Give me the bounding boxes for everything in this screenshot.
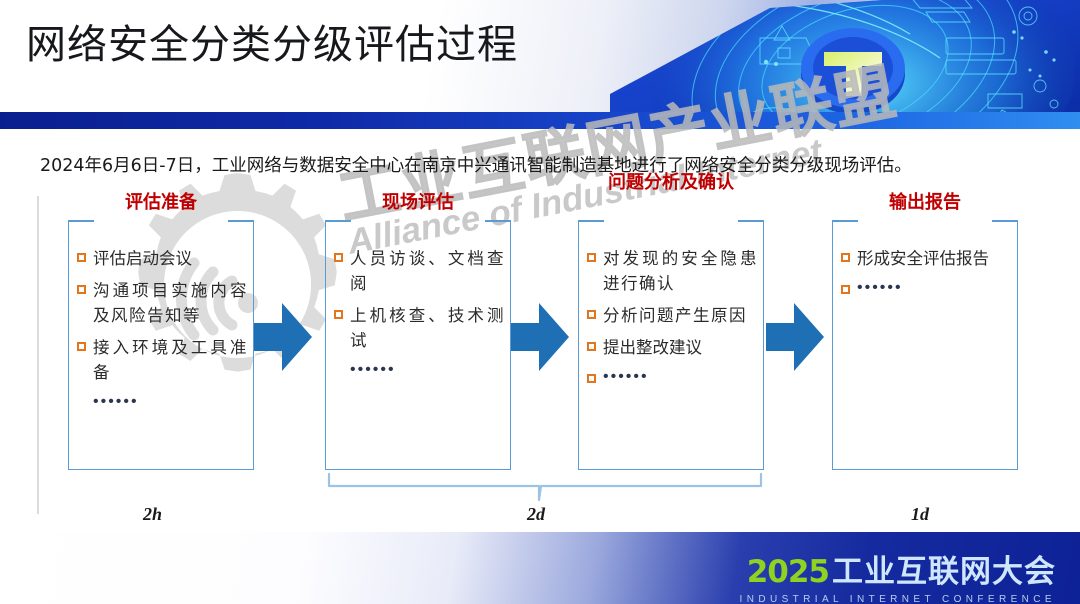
list-item: •••••• [77, 392, 248, 412]
stage-title-1: 评估准备 [56, 192, 266, 213]
conference-logo: 2025 工业互联网大会 INDUSTRIAL INTERNET CONFERE… [740, 546, 1056, 604]
square-bullet-icon [587, 310, 596, 319]
list-item-label: 形成安全评估报告 [857, 246, 989, 271]
flow-arrow-2-icon [509, 297, 571, 377]
box-top-tick-left [578, 220, 604, 222]
slide-body: 工业互联网产业联盟 Alliance of Industrial Interne… [0, 132, 1080, 532]
list-item-label: 对发现的安全隐患进行确认 [603, 246, 758, 296]
list-item-label: 人员访谈、文档查阅 [350, 246, 505, 296]
list-item-ellipsis: •••••• [93, 392, 139, 412]
stage-items-3: 对发现的安全隐患进行确认 分析问题产生原因 提出整改建议 •••••• [587, 246, 758, 394]
flow-arrow-1-icon [252, 297, 314, 377]
list-item: 对发现的安全隐患进行确认 [587, 246, 758, 296]
duration-label-first: 2h [143, 504, 162, 525]
square-bullet-icon [841, 285, 850, 294]
logo-name-cn: 工业互联网大会 [832, 546, 1056, 591]
list-item: 形成安全评估报告 [841, 246, 1012, 271]
duration-label-middle: 2d [527, 504, 545, 525]
square-bullet-icon [841, 253, 850, 262]
header-decorative-graphic [610, 0, 1080, 112]
list-item: 提出整改建议 [587, 335, 758, 360]
list-item: •••••• [587, 367, 758, 387]
square-bullet-icon [77, 342, 86, 351]
list-item: 沟通项目实施内容及风险告知等 [77, 278, 248, 328]
box-top-tick-left [325, 220, 351, 222]
list-item-label: 接入环境及工具准备 [93, 335, 248, 385]
list-item-ellipsis: •••••• [603, 367, 649, 387]
list-item: 接入环境及工具准备 [77, 335, 248, 385]
flow-arrow-3-icon [764, 297, 826, 377]
square-bullet-icon [334, 253, 343, 262]
stage-column-2[interactable]: 现场评估 人员访谈、文档查阅 上机核查、技术测试 •••••• [325, 220, 511, 470]
box-top-tick-right [228, 220, 254, 222]
slide-header: 网络安全分类分级评估过程 [0, 0, 1080, 112]
duration-brace-middle [325, 472, 765, 509]
stage-column-3[interactable]: 问题分析及确认 对发现的安全隐患进行确认 分析问题产生原因 提出整改建议 •••… [578, 220, 764, 470]
list-item-ellipsis: •••••• [350, 360, 396, 380]
stage-title-4: 输出报告 [820, 192, 1030, 213]
header-band [0, 112, 1080, 129]
stage-column-1[interactable]: 评估准备 评估启动会议 沟通项目实施内容及风险告知等 接入环境及工具准备 •••… [68, 220, 254, 470]
stage-items-4: 形成安全评估报告 •••••• [841, 246, 1012, 305]
square-bullet-icon [334, 310, 343, 319]
stage-items-1: 评估启动会议 沟通项目实施内容及风险告知等 接入环境及工具准备 •••••• [77, 246, 248, 419]
stage-column-4[interactable]: 输出报告 形成安全评估报告 •••••• [832, 220, 1018, 470]
box-top-tick-right [992, 220, 1018, 222]
list-item: •••••• [841, 278, 1012, 298]
list-item: 上机核查、技术测试 [334, 303, 505, 353]
stage-title-2: 现场评估 [313, 192, 523, 213]
list-item-label: 分析问题产生原因 [603, 303, 747, 328]
list-item: 评估启动会议 [77, 246, 248, 271]
slide-footer: 2025 工业互联网大会 INDUSTRIAL INTERNET CONFERE… [0, 532, 1080, 604]
logo-name-en: INDUSTRIAL INTERNET CONFERENCE [740, 594, 1056, 604]
square-bullet-icon [587, 253, 596, 262]
list-item: 人员访谈、文档查阅 [334, 246, 505, 296]
page-title: 网络安全分类分级评估过程 [26, 18, 518, 72]
stage-items-2: 人员访谈、文档查阅 上机核查、技术测试 •••••• [334, 246, 505, 387]
left-divider-rule [37, 196, 39, 514]
square-bullet-icon [77, 285, 86, 294]
slide: 网络安全分类分级评估过程 工业互联网产 [0, 0, 1080, 604]
box-top-tick-left [68, 220, 94, 222]
box-top-tick-right [485, 220, 511, 222]
box-top-tick-left [832, 220, 858, 222]
square-bullet-icon [587, 342, 596, 351]
subtitle-text: 2024年6月6日-7日，工业网络与数据安全中心在南京中兴通讯智能制造基地进行了… [40, 152, 1060, 177]
list-item: •••••• [334, 360, 505, 380]
duration-label-last: 1d [911, 504, 929, 525]
stage-title-3: 问题分析及确认 [566, 172, 776, 193]
square-bullet-icon [587, 374, 596, 383]
list-item-label: 沟通项目实施内容及风险告知等 [93, 278, 248, 328]
box-top-tick-right [738, 220, 764, 222]
logo-year: 2025 [747, 554, 829, 590]
square-bullet-icon [77, 253, 86, 262]
list-item-label: 提出整改建议 [603, 335, 702, 360]
list-item-ellipsis: •••••• [857, 278, 903, 298]
list-item-label: 上机核查、技术测试 [350, 303, 505, 353]
list-item-label: 评估启动会议 [93, 246, 192, 271]
list-item: 分析问题产生原因 [587, 303, 758, 328]
